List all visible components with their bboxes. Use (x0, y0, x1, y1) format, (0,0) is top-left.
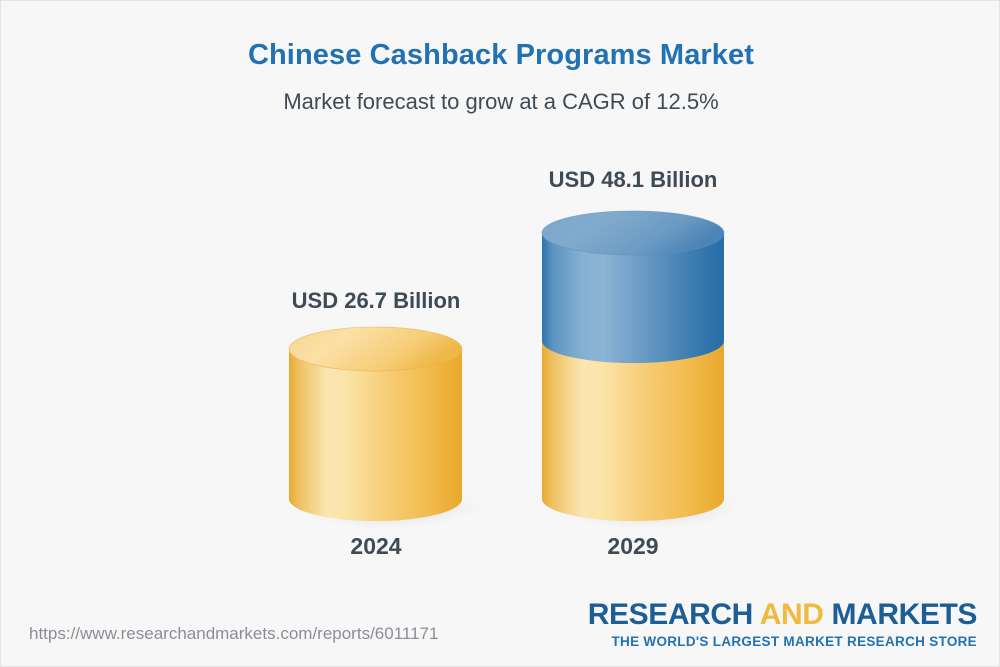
logo-word-research: RESEARCH (588, 598, 760, 631)
category-label-2024: 2024 (231, 533, 521, 560)
logo-tagline: THE WORLD'S LARGEST MARKET RESEARCH STOR… (588, 635, 977, 649)
cylinder-chart: USD 26.7 Billion USD 48.1 Billion 2024 2… (1, 1, 1000, 667)
bar-2029-body-gold (542, 341, 724, 521)
bar-2024 (289, 327, 485, 530)
bar-2024-body (289, 349, 462, 521)
bar-2029 (542, 211, 746, 530)
logo-wordmark: RESEARCH AND MARKETS (588, 600, 977, 630)
value-label-2024: USD 26.7 Billion (231, 288, 521, 314)
infographic-canvas: Chinese Cashback Programs Market Market … (0, 0, 1000, 667)
chart-svg (1, 1, 1000, 667)
logo-word-markets: MARKETS (831, 598, 977, 631)
category-label-2029: 2029 (488, 533, 778, 560)
value-label-2029: USD 48.1 Billion (488, 167, 778, 193)
source-url[interactable]: https://www.researchandmarkets.com/repor… (29, 624, 438, 644)
logo-word-and: AND (760, 598, 832, 631)
research-and-markets-logo[interactable]: RESEARCH AND MARKETS THE WORLD'S LARGEST… (588, 600, 977, 649)
